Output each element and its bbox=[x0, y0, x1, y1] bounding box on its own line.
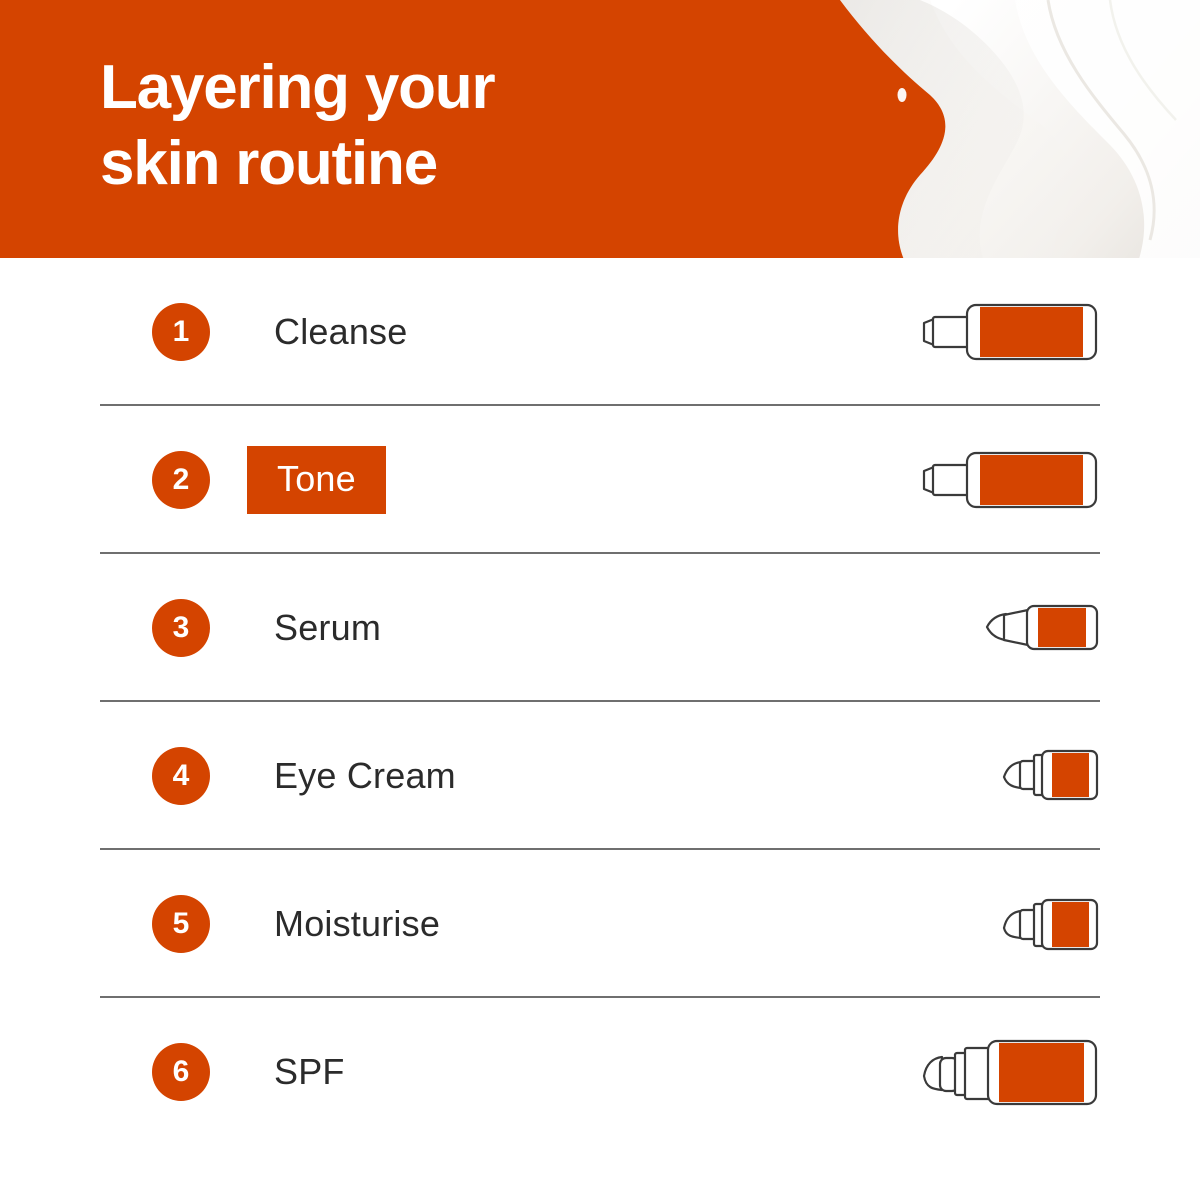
cream-swirl-icon bbox=[780, 0, 1200, 258]
step-number-badge: 1 bbox=[152, 303, 210, 361]
poster-header: Layering your skin routine bbox=[0, 0, 1200, 258]
step-number-badge: 2 bbox=[152, 451, 210, 509]
step-number-badge: 3 bbox=[152, 599, 210, 657]
list-item[interactable]: 2 Tone bbox=[0, 406, 1200, 554]
step-label: SPF bbox=[274, 1051, 345, 1093]
product-tube-icon bbox=[1000, 743, 1100, 809]
skincare-routine-poster: Layering your skin routine bbox=[0, 0, 1200, 1200]
step-label: Tone bbox=[247, 446, 386, 514]
step-number-badge: 6 bbox=[152, 1043, 210, 1101]
step-label: Serum bbox=[274, 607, 381, 649]
page-title: Layering your skin routine bbox=[100, 50, 740, 202]
step-number-badge: 5 bbox=[152, 895, 210, 953]
product-tube-icon bbox=[920, 1034, 1100, 1110]
step-label: Eye Cream bbox=[274, 755, 456, 797]
list-item[interactable]: 3 Serum bbox=[0, 554, 1200, 702]
product-tube-icon bbox=[984, 597, 1100, 659]
step-number-badge: 4 bbox=[152, 747, 210, 805]
list-item[interactable]: 4 Eye Cream bbox=[0, 702, 1200, 850]
list-item[interactable]: 1 Cleanse bbox=[0, 258, 1200, 406]
product-tube-icon bbox=[1000, 890, 1100, 958]
list-item[interactable]: 6 SPF bbox=[0, 998, 1200, 1146]
step-label: Cleanse bbox=[274, 311, 407, 353]
step-label: Moisturise bbox=[274, 903, 440, 945]
product-tube-icon bbox=[920, 299, 1100, 365]
list-item[interactable]: 5 Moisturise bbox=[0, 850, 1200, 998]
product-tube-icon bbox=[920, 447, 1100, 513]
routine-step-list: 1 Cleanse 2 Tone bbox=[0, 258, 1200, 1146]
